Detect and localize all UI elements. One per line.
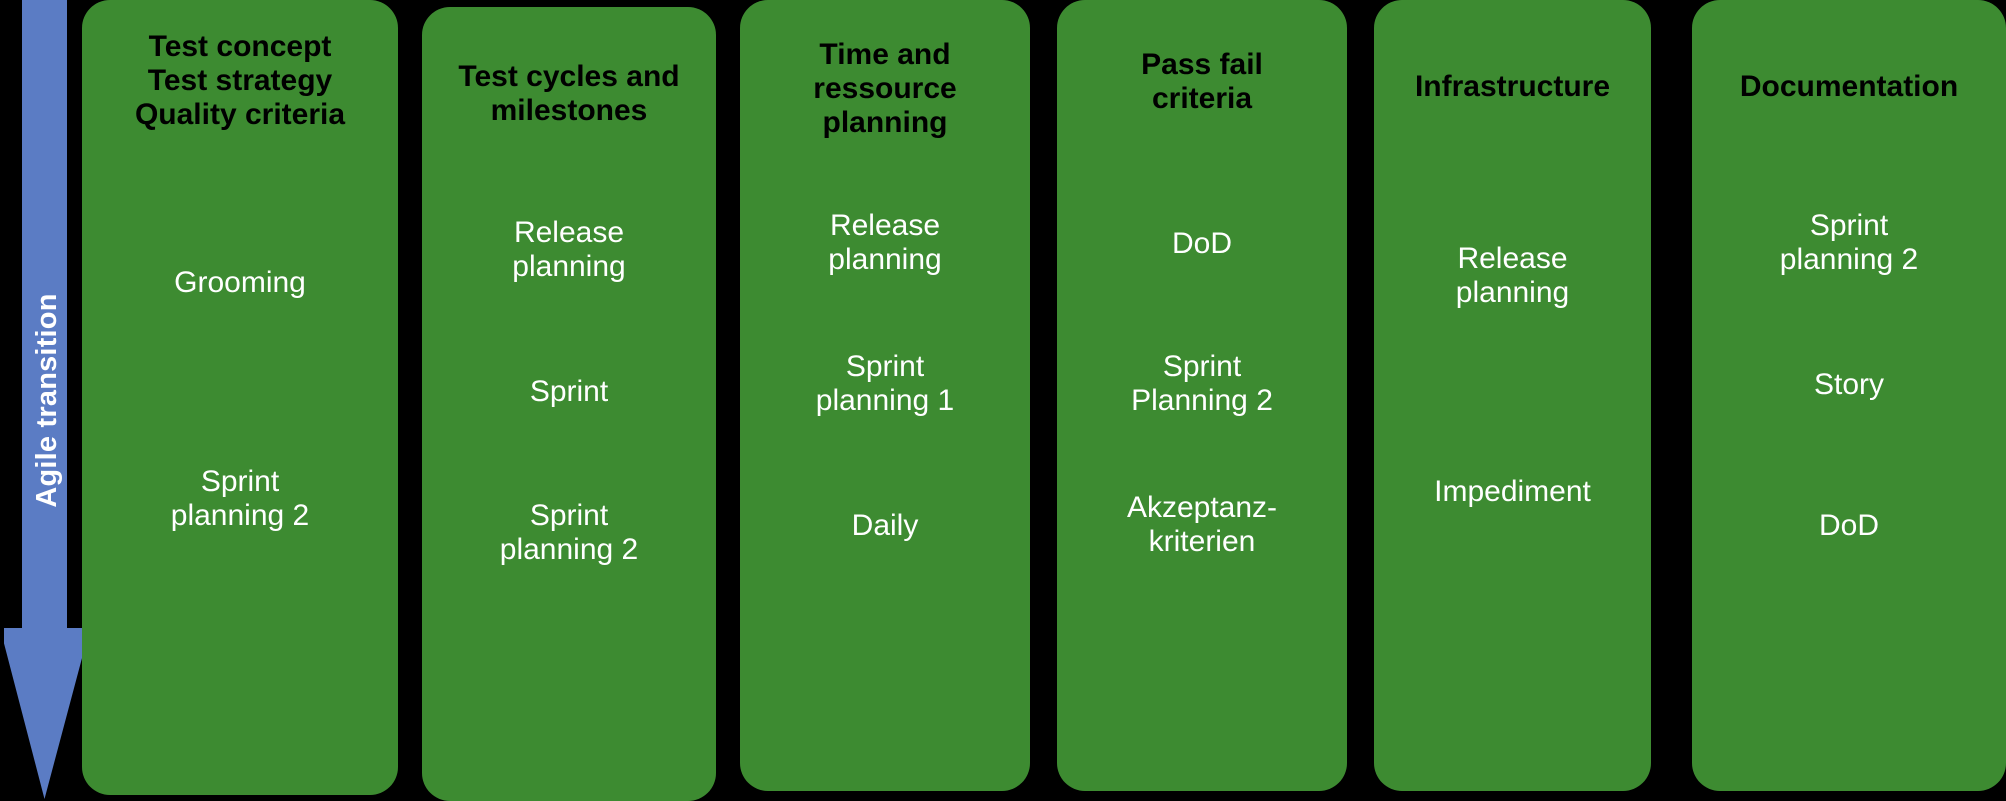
column-infrastructure[interactable]: Infrastructure Release planning Impedime… bbox=[1374, 0, 1651, 791]
down-arrow-icon bbox=[4, 0, 90, 801]
column-documentation[interactable]: Documentation Sprint planning 2 Story Do… bbox=[1692, 0, 2006, 791]
column-item-daily: Daily bbox=[740, 509, 1030, 543]
column-pass-fail-criteria[interactable]: Pass fail criteria DoD Sprint Planning 2… bbox=[1057, 0, 1347, 791]
column-header-time-resource-planning: Time and ressource planning bbox=[740, 38, 1030, 140]
column-test-cycles[interactable]: Test cycles and milestones Release plann… bbox=[422, 7, 716, 801]
column-item-impediment: Impediment bbox=[1374, 475, 1651, 509]
column-header-infrastructure: Infrastructure bbox=[1374, 70, 1651, 104]
column-item-release-planning: Release planning bbox=[740, 209, 1030, 277]
column-item-sprint-planning-1: Sprint planning 1 bbox=[740, 350, 1030, 418]
column-item-sprint-planning-2: Sprint Planning 2 bbox=[1057, 350, 1347, 418]
column-item-release-planning: Release planning bbox=[422, 216, 716, 284]
column-header-pass-fail-criteria: Pass fail criteria bbox=[1057, 48, 1347, 116]
column-item-sprint-planning-2: Sprint planning 2 bbox=[1692, 209, 2006, 277]
column-item-story: Story bbox=[1692, 368, 2006, 402]
column-header-documentation: Documentation bbox=[1692, 70, 2006, 104]
column-item-grooming: Grooming bbox=[82, 266, 398, 300]
agile-transition-arrow: Agile transition bbox=[4, 0, 90, 801]
column-item-dod: DoD bbox=[1057, 227, 1347, 261]
column-header-test-concept: Test concept Test strategy Quality crite… bbox=[82, 30, 398, 132]
column-time-resource-planning[interactable]: Time and ressource planning Release plan… bbox=[740, 0, 1030, 791]
diagram-canvas: Agile transition Test concept Test strat… bbox=[0, 0, 2006, 801]
column-item-dod: DoD bbox=[1692, 509, 2006, 543]
column-header-test-cycles: Test cycles and milestones bbox=[422, 60, 716, 128]
column-item-release-planning: Release planning bbox=[1374, 242, 1651, 310]
column-item-sprint: Sprint bbox=[422, 375, 716, 409]
column-test-concept[interactable]: Test concept Test strategy Quality crite… bbox=[82, 0, 398, 795]
column-item-akzeptanzkriterien: Akzeptanz- kriterien bbox=[1057, 491, 1347, 559]
column-item-sprint-planning-2: Sprint planning 2 bbox=[82, 465, 398, 533]
column-item-sprint-planning-2: Sprint planning 2 bbox=[422, 499, 716, 567]
